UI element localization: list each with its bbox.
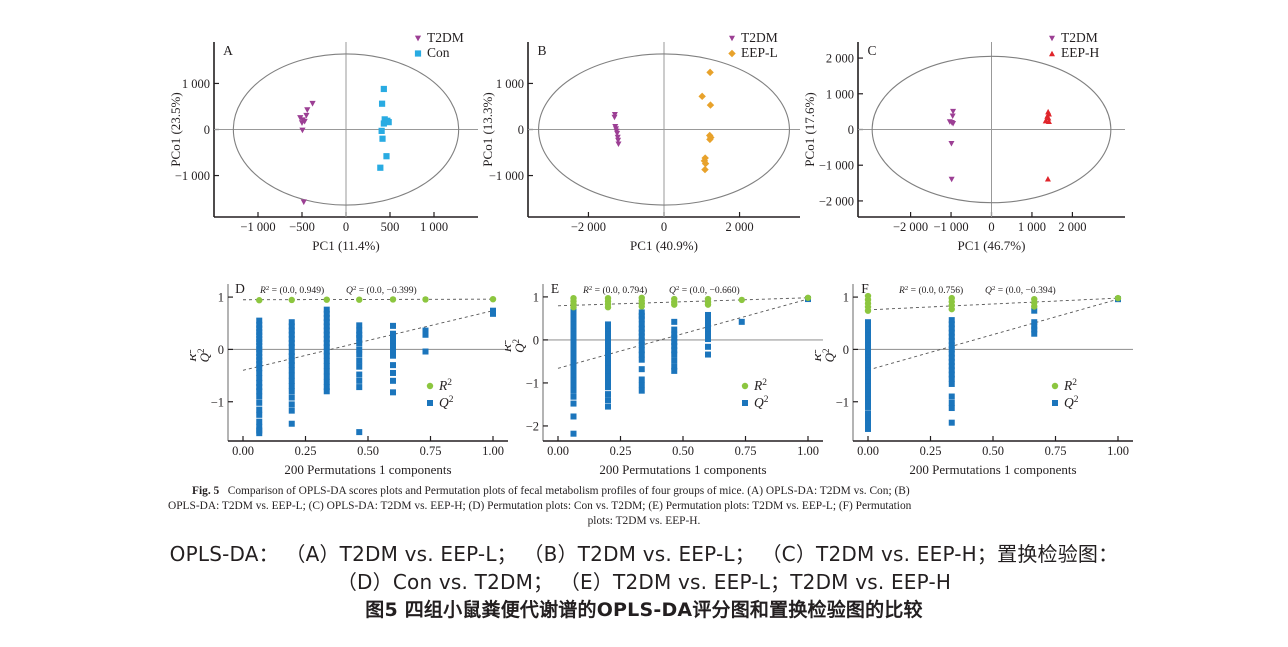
x-tick-label: 1.00 [482, 444, 504, 458]
q2-data-point [705, 344, 711, 350]
legend-label-q2: Q2 [439, 395, 454, 410]
panel-label: F [861, 281, 869, 296]
x-axis-label: 200 Permutations 1 components [599, 462, 766, 477]
q2-data-point [356, 322, 362, 328]
svg-text:R2 = (0.0, 0.949): R2 = (0.0, 0.949) [259, 285, 324, 297]
series-eep-l [698, 69, 714, 174]
panel-f-plot: 0.000.250.500.751.00−101FR2 = (0.0, 0.75… [815, 272, 1145, 477]
r2-trend-line [868, 298, 1118, 310]
y-tick-label: −1 [836, 395, 849, 409]
q2-points [256, 307, 496, 437]
q2-data-point [356, 358, 362, 364]
q2-points [571, 296, 812, 437]
q2-data-point [356, 346, 362, 352]
q2-data-point [949, 405, 955, 411]
x-tick-label: 0.25 [295, 444, 317, 458]
y-tick-label: 1 000 [496, 77, 524, 91]
y-tick-label: −1 [211, 395, 224, 409]
q2-data-point [390, 347, 396, 353]
y-tick-label: 0 [518, 123, 524, 137]
q2-data-point [289, 388, 295, 394]
q2-data-point [605, 391, 611, 397]
q2-data-point [324, 368, 330, 374]
svg-text:Q2: Q2 [511, 338, 527, 352]
q2-data-point [639, 342, 645, 348]
caption-line-2: OPLS-DA: T2DM vs. EEP-L; (C) OPLS-DA: T2… [168, 499, 1120, 514]
q2-data-point [423, 349, 429, 355]
q2-data-point [865, 426, 871, 432]
q2-data-point [289, 373, 295, 379]
r2-trend-line [558, 298, 808, 306]
q2-data-point [571, 413, 577, 419]
q2-data-point [605, 404, 611, 410]
q2-data-point [705, 312, 711, 318]
q2-data-point [423, 332, 429, 338]
r2-data-point [289, 297, 295, 303]
y-tick-label: 0 [848, 123, 854, 137]
data-point [706, 69, 713, 76]
q2-data-point [571, 401, 577, 407]
q2-data-point [356, 335, 362, 341]
q2-data-point [639, 357, 645, 363]
y-tick-label: 2 000 [826, 52, 854, 66]
legend: T2DMEEP-L [728, 30, 777, 60]
x-tick-label: 0.00 [232, 444, 254, 458]
legend-label-t2dm: T2DM [427, 30, 464, 45]
q2-data-point [324, 374, 330, 380]
y-axis-label: PCo1 (17.6%) [802, 92, 817, 166]
data-point [304, 107, 310, 113]
svg-text:Q2: Q2 [439, 395, 454, 410]
q2-data-point [390, 378, 396, 384]
q2-data-point [949, 420, 955, 426]
x-axis-label: PC1 (40.9%) [630, 238, 698, 253]
legend-label-r2: R2 [1063, 378, 1077, 393]
svg-text:R2 = (0.0, 0.794): R2 = (0.0, 0.794) [582, 285, 647, 297]
data-point [377, 165, 383, 171]
y-tick-label: 0 [218, 343, 224, 357]
legend-label-q2: Q2 [754, 395, 769, 410]
y-tick-label: 1 [843, 291, 849, 305]
y-tick-label: −1 [526, 376, 539, 390]
q2-data-point [256, 394, 262, 400]
legend-marker-q2 [427, 400, 433, 406]
r2-data-point [805, 295, 811, 301]
q2-data-point [639, 366, 645, 372]
q2-data-point [671, 327, 677, 333]
panel-label: D [235, 281, 245, 296]
data-point [381, 86, 387, 92]
legend: R2Q2 [427, 378, 454, 410]
q2-data-point [671, 358, 677, 364]
q2-data-point [639, 388, 645, 394]
q2-data-point [324, 353, 330, 359]
x-tick-label: 0.75 [735, 444, 757, 458]
panel-label: A [223, 43, 233, 58]
q2-data-point [571, 388, 577, 394]
q2-trend-line [868, 299, 1118, 370]
y-axis-label: PCo1 (13.3%) [480, 92, 495, 166]
r2-data-point [671, 301, 677, 307]
y-tick-label: 1 [218, 291, 224, 305]
series-eep-h [1043, 109, 1052, 182]
y-tick-label: −2 [526, 419, 539, 433]
q2-data-point [671, 352, 677, 358]
data-point [383, 153, 389, 159]
q2-data-point [356, 429, 362, 435]
x-axis-label: PC1 (46.7%) [958, 238, 1026, 253]
data-point [309, 101, 315, 107]
data-point [1045, 176, 1051, 182]
x-tick-label: 2 000 [725, 220, 753, 234]
x-tick-label: −2 000 [571, 220, 606, 234]
q2-data-point [289, 401, 295, 407]
q2-data-point [605, 384, 611, 390]
q2-points [865, 296, 1121, 432]
q2-data-point [571, 382, 577, 388]
x-tick-label: 0.75 [1045, 444, 1067, 458]
r2-data-point [705, 301, 711, 307]
q2-trend-line [243, 311, 493, 371]
legend-label-t2dm: T2DM [741, 30, 778, 45]
y-axis-label: R2Q2 [505, 338, 527, 353]
y-axis-label: R2Q2 [190, 348, 212, 363]
figure-5-container: −1 000−50005001 000−1 00001 000APC1 (11.… [0, 0, 1288, 647]
caption-line-1: Comparison of OPLS-DA scores plots and P… [228, 485, 910, 497]
legend-label-eep-h: EEP-H [1061, 45, 1099, 60]
r2-intercept-annotation: R2 = (0.0, 0.794) [582, 285, 647, 297]
y-axis-label-q2: Q2 [511, 338, 527, 352]
q2-data-point [324, 363, 330, 369]
q2-data-point [256, 370, 262, 376]
r2-trend-line [243, 299, 493, 300]
q2-data-point [949, 376, 955, 382]
q2-data-point [671, 319, 677, 325]
panel-d-permutation-con-vs-t2dm: 0.000.250.500.751.00−101DR2 = (0.0, 0.94… [190, 272, 520, 477]
data-point [701, 166, 708, 173]
r2-intercept-annotation: R2 = (0.0, 0.949) [259, 285, 324, 297]
svg-text:R2 = (0.0, 0.756): R2 = (0.0, 0.756) [898, 285, 963, 297]
y-axis-label-q2: Q2 [821, 348, 837, 362]
q2-data-point [256, 419, 262, 425]
legend-marker-r2 [742, 383, 748, 389]
q2-data-point [256, 430, 262, 436]
legend-marker-q2 [742, 400, 748, 406]
x-tick-label: 0.25 [610, 444, 632, 458]
y-tick-label: −1 000 [175, 169, 210, 183]
panel-label: B [537, 43, 546, 58]
y-tick-label: 1 [533, 290, 539, 304]
q2-data-point [356, 352, 362, 358]
y-tick-label: 1 000 [182, 77, 210, 91]
data-point [615, 141, 621, 147]
data-point [949, 177, 955, 183]
caption-line-3: plots: T2DM vs. EEP-H. [168, 514, 1120, 529]
data-point [381, 120, 387, 126]
r2-data-point [949, 306, 955, 312]
q2-data-point [356, 340, 362, 346]
q2-data-point [356, 364, 362, 370]
series-t2dm [947, 109, 956, 182]
svg-text:R2: R2 [1063, 378, 1077, 393]
q2-data-point [324, 358, 330, 364]
q2-data-point [390, 370, 396, 376]
q2-data-point [865, 404, 871, 410]
q2-data-point [490, 311, 496, 317]
legend: T2DMEEP-H [1049, 30, 1099, 60]
q2-intercept-annotation: Q2 = (0.0, −0.399) [346, 285, 417, 297]
q2-data-point [356, 384, 362, 390]
q2-data-point [356, 378, 362, 384]
svg-text:R2: R2 [438, 378, 452, 393]
legend-marker-t2dm [415, 36, 421, 42]
r2-data-point [356, 297, 362, 303]
q2-data-point [605, 397, 611, 403]
y-tick-label: 0 [533, 333, 539, 347]
x-tick-label: 0.50 [357, 444, 379, 458]
legend-marker-eep-h [1049, 51, 1055, 57]
q2-data-point [949, 394, 955, 400]
legend-label-r2: R2 [438, 378, 452, 393]
svg-text:Q2: Q2 [821, 348, 837, 362]
x-tick-label: 0.50 [982, 444, 1004, 458]
x-tick-label: 2 000 [1058, 220, 1086, 234]
data-point [707, 101, 714, 108]
q2-data-point [705, 318, 711, 324]
q2-data-point [739, 319, 745, 325]
legend-label-con: Con [427, 45, 450, 60]
series-con [377, 86, 392, 171]
q2-data-point [289, 367, 295, 373]
q2-data-point [605, 379, 611, 385]
panel-b-opls-da-t2dm-vs-eepl: −2 00002 000−1 00001 000BPC1 (40.9%)PCo1… [480, 28, 810, 253]
q2-data-point [605, 374, 611, 380]
svg-text:Q2: Q2 [1064, 395, 1079, 410]
q2-data-point [289, 408, 295, 414]
panel-label: C [867, 43, 876, 58]
q2-data-point [705, 336, 711, 342]
q2-data-point [390, 389, 396, 395]
y-tick-label: −1 000 [489, 169, 524, 183]
legend-label-r2: R2 [753, 378, 767, 393]
legend-label-q2: Q2 [1064, 395, 1079, 410]
figure-number: Fig. 5 [192, 485, 219, 497]
panel-b-plot: −2 00002 000−1 00001 000BPC1 (40.9%)PCo1… [480, 28, 810, 253]
x-tick-label: −1 000 [240, 220, 275, 234]
r2-data-point [605, 304, 611, 310]
series-t2dm [297, 101, 316, 205]
r2-data-point [256, 297, 262, 303]
x-tick-label: 0 [988, 220, 994, 234]
panel-a-plot: −1 000−50005001 000−1 00001 000APC1 (11.… [168, 28, 488, 253]
data-point [948, 141, 954, 147]
svg-text:Q2: Q2 [196, 348, 212, 362]
data-point [379, 136, 385, 142]
q2-data-point [256, 388, 262, 394]
y-tick-label: −2 000 [819, 194, 854, 208]
legend-marker-r2 [1052, 383, 1058, 389]
caption-chinese-title: 图5 四组小鼠粪便代谢谱的OPLS-DA评分图和置换检验图的比较 [0, 595, 1288, 622]
q2-data-point [705, 352, 711, 358]
q2-data-point [390, 323, 396, 329]
caption-chinese-line-2: （D）Con vs. T2DM； （E）T2DM vs. EEP-L；T2DM … [0, 566, 1288, 595]
data-point [950, 114, 956, 120]
q2-data-point [289, 378, 295, 384]
panel-e-plot: 0.000.250.500.751.00−2−101ER2 = (0.0, 0.… [505, 272, 835, 477]
q2-data-point [865, 410, 871, 416]
r2-data-point [1031, 303, 1037, 309]
y-axis-label: PCo1 (23.5%) [168, 92, 183, 166]
q2-data-point [571, 394, 577, 400]
panel-d-plot: 0.000.250.500.751.00−101DR2 = (0.0, 0.94… [190, 272, 520, 477]
x-tick-label: 1 000 [420, 220, 448, 234]
q2-data-point [324, 388, 330, 394]
r2-data-point [570, 304, 576, 310]
x-tick-label: 0.00 [547, 444, 569, 458]
legend: T2DMCon [415, 30, 464, 60]
q2-data-point [671, 368, 677, 374]
legend-marker-q2 [1052, 400, 1058, 406]
panel-e-permutation-t2dm-vs-eepl: 0.000.250.500.751.00−2−101ER2 = (0.0, 0.… [505, 272, 835, 477]
r2-data-point [739, 297, 745, 303]
x-tick-label: 1.00 [1107, 444, 1129, 458]
x-axis-label: PC1 (11.4%) [312, 238, 379, 253]
x-tick-label: 0.25 [920, 444, 942, 458]
q2-data-point [639, 352, 645, 358]
q2-data-point [256, 407, 262, 413]
svg-text:R2: R2 [753, 378, 767, 393]
svg-text:Q2 = (0.0, −0.394): Q2 = (0.0, −0.394) [985, 285, 1056, 297]
q2-data-point [356, 372, 362, 378]
q2-intercept-annotation: Q2 = (0.0, −0.394) [985, 285, 1056, 297]
legend: R2Q2 [742, 378, 769, 410]
x-axis-label: 200 Permutations 1 components [909, 462, 1076, 477]
legend-label-t2dm: T2DM [1061, 30, 1098, 45]
data-point [301, 199, 307, 205]
caption-chinese-line-1: OPLS-DA： （A）T2DM vs. EEP-L； （B）T2DM vs. … [0, 538, 1288, 567]
x-tick-label: 0 [661, 220, 667, 234]
x-tick-label: 0.50 [672, 444, 694, 458]
x-tick-label: 0.00 [857, 444, 879, 458]
data-point [379, 128, 385, 134]
q2-data-point [324, 379, 330, 385]
r2-data-point [490, 296, 496, 302]
q2-data-point [949, 400, 955, 406]
panel-c-opls-da-t2dm-vs-eeph: −2 000−1 00001 0002 000−2 000−1 00001 00… [800, 28, 1135, 253]
figure-caption-english: Fig. 5 Comparison of OPLS-DA scores plot… [168, 484, 1120, 530]
r2-intercept-annotation: R2 = (0.0, 0.756) [898, 285, 963, 297]
y-axis-label-q2: Q2 [196, 348, 212, 362]
q2-data-point [289, 362, 295, 368]
y-axis-label: R2Q2 [815, 348, 837, 363]
panel-label: E [551, 281, 559, 296]
x-axis-label: 200 Permutations 1 components [284, 462, 451, 477]
q2-data-point [289, 421, 295, 427]
q2-data-point [289, 395, 295, 401]
q2-intercept-annotation: Q2 = (0.0, −0.660) [669, 285, 740, 297]
r2-data-point [865, 307, 871, 313]
x-tick-label: 0 [343, 220, 349, 234]
q2-data-point [639, 316, 645, 322]
legend: R2Q2 [1052, 378, 1079, 410]
r2-data-point [639, 303, 645, 309]
r2-data-point [422, 296, 428, 302]
data-point [379, 101, 385, 107]
q2-data-point [571, 431, 577, 437]
data-point [612, 115, 618, 121]
data-point [299, 128, 305, 134]
q2-data-point [390, 353, 396, 359]
panel-c-plot: −2 000−1 00001 0002 000−2 000−1 00001 00… [800, 28, 1135, 253]
y-tick-label: −1 000 [819, 159, 854, 173]
x-tick-label: 1 000 [1018, 220, 1046, 234]
q2-data-point [865, 415, 871, 421]
q2-data-point [390, 362, 396, 368]
q2-data-point [639, 382, 645, 388]
x-tick-label: −1 000 [933, 220, 968, 234]
y-tick-label: 0 [843, 343, 849, 357]
q2-data-point [1031, 331, 1037, 337]
svg-text:Q2 = (0.0, −0.399): Q2 = (0.0, −0.399) [346, 285, 417, 297]
legend-marker-r2 [427, 383, 433, 389]
q2-trend-line [558, 299, 808, 368]
svg-text:Q2 = (0.0, −0.660): Q2 = (0.0, −0.660) [669, 285, 740, 297]
q2-data-point [865, 421, 871, 427]
panel-a-opls-da-t2dm-vs-con: −1 000−50005001 000−1 00001 000APC1 (11.… [168, 28, 488, 253]
legend-marker-eep-l [728, 50, 735, 57]
q2-data-point [639, 376, 645, 382]
q2-data-point [949, 381, 955, 387]
legend-label-eep-l: EEP-L [741, 45, 778, 60]
x-tick-label: 500 [381, 220, 400, 234]
legend-marker-con [415, 50, 421, 56]
r2-points [570, 295, 811, 311]
x-tick-label: −500 [289, 220, 315, 234]
q2-data-point [289, 383, 295, 389]
panel-f-permutation-t2dm-vs-eeph: 0.000.250.500.751.00−101FR2 = (0.0, 0.75… [815, 272, 1145, 477]
y-tick-label: 1 000 [826, 87, 854, 101]
legend-marker-t2dm [729, 36, 735, 42]
y-tick-label: 0 [204, 123, 210, 137]
legend-marker-t2dm [1049, 36, 1055, 42]
svg-text:Q2: Q2 [754, 395, 769, 410]
q2-data-point [256, 412, 262, 418]
q2-data-point [256, 400, 262, 406]
r2-data-point [1115, 295, 1121, 301]
r2-data-point [390, 296, 396, 302]
r2-data-point [324, 297, 330, 303]
x-tick-label: −2 000 [893, 220, 928, 234]
x-tick-label: 0.75 [420, 444, 442, 458]
data-point [698, 93, 705, 100]
